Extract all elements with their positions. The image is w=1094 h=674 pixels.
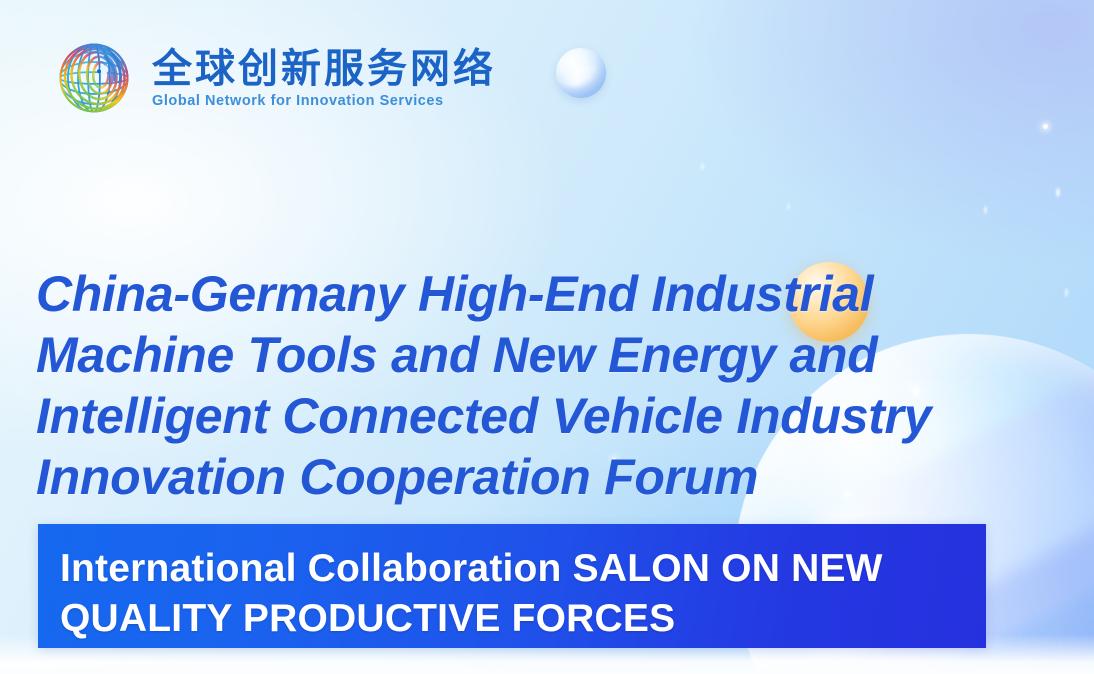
title-line-4: Innovation Cooperation Forum — [36, 447, 1066, 508]
sparkle-dot — [701, 163, 704, 170]
event-poster: 全球创新服务网络 Global Network for Innovation S… — [0, 0, 1094, 674]
brand-logo: 全球创新服务网络 Global Network for Innovation S… — [52, 36, 496, 120]
sparkle-dot — [1056, 188, 1060, 197]
sparkle-dot — [787, 203, 790, 210]
sparkle-dot — [1043, 124, 1048, 129]
globe-network-logo-icon — [52, 36, 136, 120]
logo-chinese-name: 全球创新服务网络 — [152, 48, 496, 90]
banner-line-2: QUALITY PRODUCTIVE FORCES — [60, 594, 966, 644]
sparkle-dot — [984, 206, 987, 214]
title-line-1: China-Germany High-End Industrial — [36, 264, 1066, 325]
page-title: China-Germany High-End Industrial Machin… — [36, 264, 1066, 508]
title-line-3: Intelligent Connected Vehicle Industry — [36, 386, 1066, 447]
subtitle-banner-text: International Collaboration SALON ON NEW… — [60, 544, 966, 644]
banner-line-1: International Collaboration SALON ON NEW — [60, 544, 966, 594]
subtitle-banner: International Collaboration SALON ON NEW… — [38, 524, 986, 648]
blue-white-sphere — [556, 48, 606, 98]
title-line-2: Machine Tools and New Energy and — [36, 325, 1066, 386]
logo-english-name: Global Network for Innovation Services — [152, 93, 496, 109]
